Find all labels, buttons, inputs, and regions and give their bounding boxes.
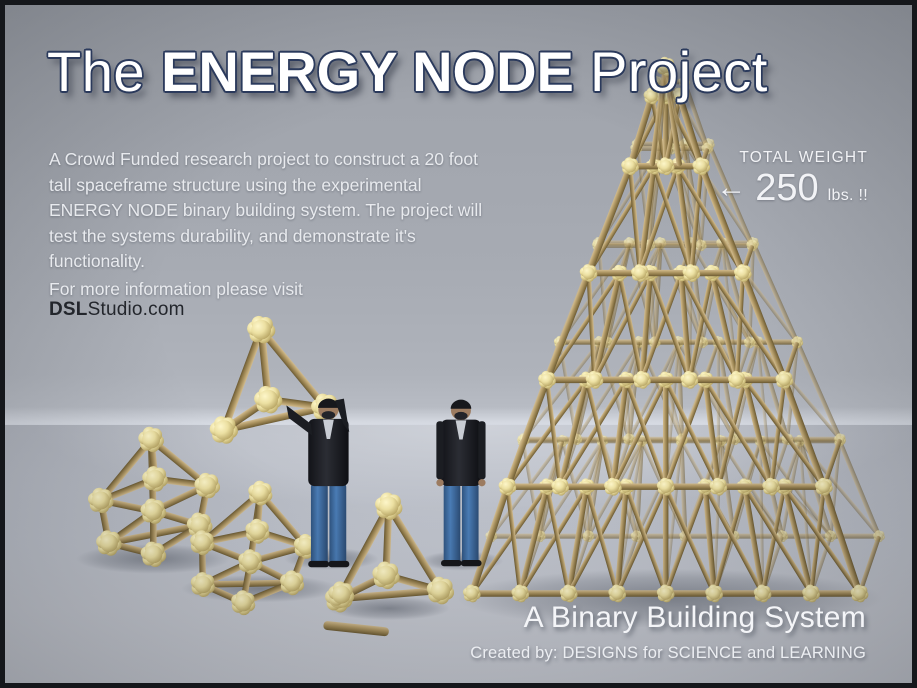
body-paragraph: A Crowd Funded research project to const… (49, 147, 489, 275)
description-block: A Crowd Funded research project to const… (49, 147, 489, 275)
weight-label: TOTAL WEIGHT (716, 149, 868, 167)
weight-value: 250 (755, 168, 818, 208)
title-suffix: Project (574, 40, 768, 103)
website-url: DSLStudio.com (49, 299, 185, 321)
caption-primary: A Binary Building System (524, 601, 866, 635)
url-rest: Studio.com (88, 299, 185, 320)
total-weight-callout: TOTAL WEIGHT ← 250 lbs. !! (716, 149, 868, 208)
weight-unit: lbs. !! (828, 187, 868, 205)
spaceframe-scene (5, 5, 912, 685)
title-emphasis: ENERGY NODE (161, 40, 574, 103)
left-arrow-icon: ← (716, 173, 746, 203)
poster-canvas: The ENERGY NODE Project A Crowd Funded r… (0, 0, 917, 688)
frame-geometry (83, 57, 885, 622)
page-title: The ENERGY NODE Project (47, 39, 768, 104)
title-prefix: The (47, 40, 161, 103)
caption-secondary: Created by: DESIGNS for SCIENCE and LEAR… (470, 644, 866, 663)
url-bold: DSL (49, 299, 88, 320)
